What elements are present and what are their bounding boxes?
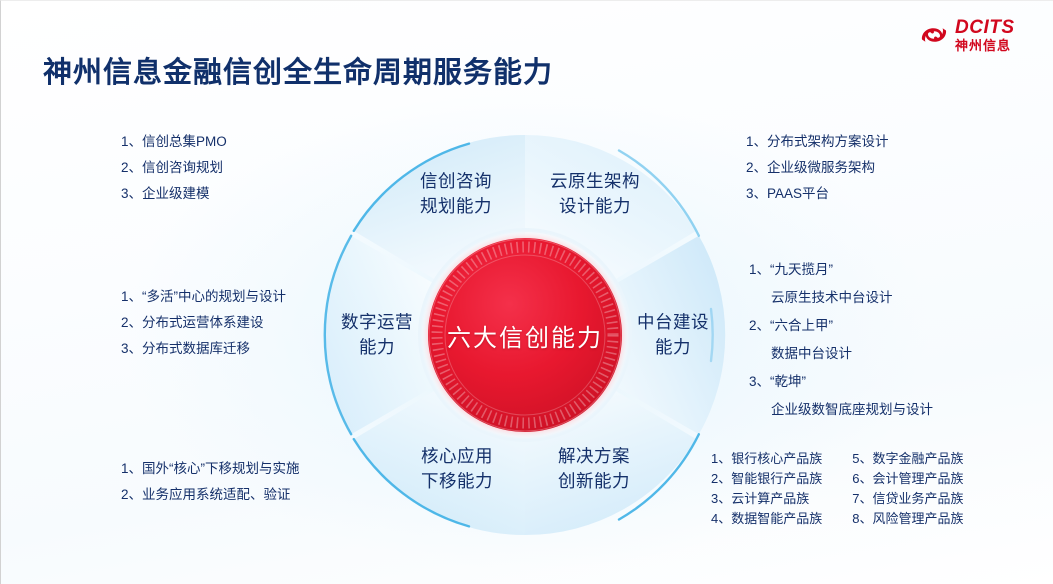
callout-bottom-left: 1、国外“核心”下移规划与实施 2、业务应用系统适配、验证 xyxy=(121,456,300,508)
callout-bottom-right: 1、银行核心产品族 2、智能银行产品族 3、云计算产品族 4、数据智能产品族 5… xyxy=(711,449,963,529)
segment-label-solution: 解决方案 创新能力 xyxy=(534,444,654,494)
callout-item: 3、分布式数据库迁移 xyxy=(121,336,286,362)
segment-label-midplatform: 中台建设 能力 xyxy=(621,310,725,360)
segment-label-digital-ops: 数字运营 能力 xyxy=(325,310,429,360)
callout-item: 1、国外“核心”下移规划与实施 xyxy=(121,456,300,482)
label-line2: 设计能力 xyxy=(559,196,631,216)
callout-item-head: 3、“乾坤” xyxy=(749,368,933,396)
label-line1: 数字运营 xyxy=(341,312,413,332)
callout-item: 5、数字金融产品族 xyxy=(852,449,963,469)
label-line1: 云原生架构 xyxy=(550,171,640,191)
callout-item: 1、分布式架构方案设计 xyxy=(746,129,889,155)
callout-top-right: 1、分布式架构方案设计 2、企业级微服务架构 3、PAAS平台 xyxy=(746,129,889,207)
slide-canvas: DCITS 神州信息 神州信息金融信创全生命周期服务能力 1、信创总集PMO 2… xyxy=(0,0,1053,584)
logo-wordmark-cn: 神州信息 xyxy=(955,39,1015,52)
label-line2: 下移能力 xyxy=(421,471,493,491)
callout-middle-right: 1、“九天揽月” 云原生技术中台设计 2、“六合上甲” 数据中台设计 3、“乾坤… xyxy=(749,256,933,424)
label-line1: 核心应用 xyxy=(421,446,493,466)
segment-label-cloud-native: 云原生架构 设计能力 xyxy=(532,169,658,219)
callout-item: 2、业务应用系统适配、验证 xyxy=(121,482,300,508)
label-line2: 能力 xyxy=(359,337,395,357)
callout-item: 2、信创咨询规划 xyxy=(121,155,227,181)
callout-item: 2、企业级微服务架构 xyxy=(746,155,889,181)
callout-item: 1、信创总集PMO xyxy=(121,129,227,155)
dcits-swirl-icon xyxy=(919,20,949,50)
callout-item: 3、PAAS平台 xyxy=(746,181,889,207)
brand-logo: DCITS 神州信息 xyxy=(919,13,1045,57)
page-title: 神州信息金融信创全生命周期服务能力 xyxy=(43,49,553,91)
label-line2: 创新能力 xyxy=(558,471,630,491)
label-line2: 能力 xyxy=(655,337,691,357)
callout-column-right: 5、数字金融产品族 6、会计管理产品族 7、信贷业务产品族 8、风险管理产品族 xyxy=(852,449,963,529)
callout-top-left: 1、信创总集PMO 2、信创咨询规划 3、企业级建模 xyxy=(121,129,227,207)
callout-item: 6、会计管理产品族 xyxy=(852,469,963,489)
callout-item: 2、分布式运营体系建设 xyxy=(121,310,286,336)
label-line1: 中台建设 xyxy=(637,312,709,332)
callout-item-head: 1、“九天揽月” xyxy=(749,256,933,284)
label-line1: 解决方案 xyxy=(558,446,630,466)
label-line2: 规划能力 xyxy=(420,196,492,216)
label-line1: 信创咨询 xyxy=(420,171,492,191)
callout-item-head: 2、“六合上甲” xyxy=(749,312,933,340)
callout-item: 3、企业级建模 xyxy=(121,181,227,207)
six-capabilities-donut: 六大信创能力 信创咨询 规划能力 云原生架构 设计能力 中台建设 能力 解决方案… xyxy=(319,129,731,541)
callout-item-sub: 云原生技术中台设计 xyxy=(749,284,933,312)
segment-label-consulting: 信创咨询 规划能力 xyxy=(397,169,515,219)
callout-middle-left: 1、“多活”中心的规划与设计 2、分布式运营体系建设 3、分布式数据库迁移 xyxy=(121,284,286,362)
callout-item-sub: 企业级数智底座规划与设计 xyxy=(749,396,933,424)
callout-item-sub: 数据中台设计 xyxy=(749,340,933,368)
segment-label-core-app: 核心应用 下移能力 xyxy=(397,444,517,494)
logo-wordmark-en: DCITS xyxy=(955,18,1015,37)
callout-item: 8、风险管理产品族 xyxy=(852,509,963,529)
callout-item: 1、“多活”中心的规划与设计 xyxy=(121,284,286,310)
callout-item: 7、信贷业务产品族 xyxy=(852,489,963,509)
